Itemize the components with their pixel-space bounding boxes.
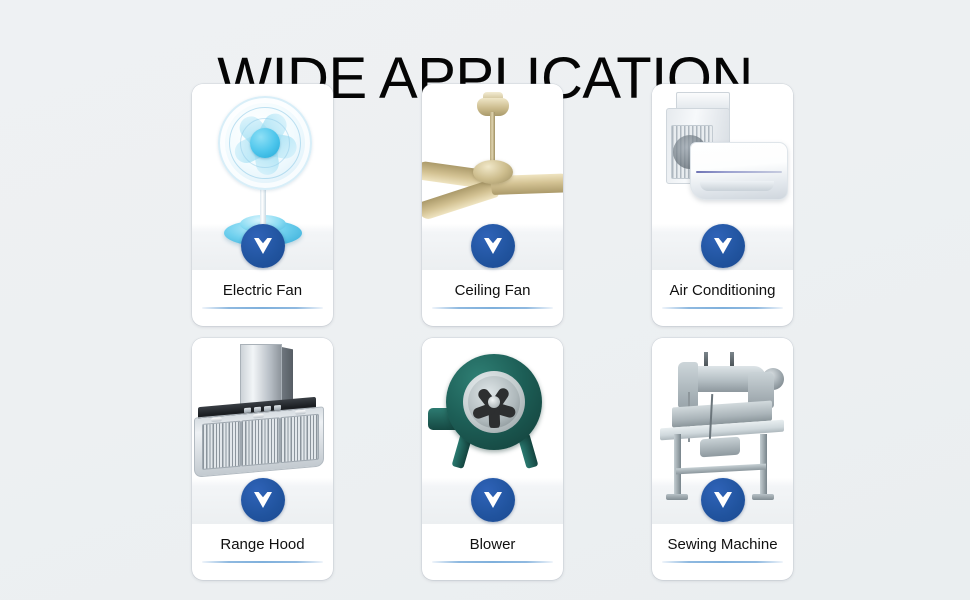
fan-blade: [261, 132, 298, 161]
chevron-down-icon[interactable]: [241, 224, 285, 268]
stand-foot: [752, 494, 774, 500]
card-label: Electric Fan: [192, 281, 333, 300]
chevron-down-icon[interactable]: [471, 478, 515, 522]
hood-filter: [241, 417, 280, 466]
card-label: Sewing Machine: [652, 535, 793, 554]
fan-blade: [231, 131, 272, 167]
card-label: Air Conditioning: [652, 281, 793, 300]
card-underline: [432, 307, 553, 309]
hood-body: [194, 406, 324, 477]
fan-cage: [218, 96, 312, 190]
thread-spool-pin: [730, 352, 734, 366]
application-card-ceiling-fan[interactable]: Ceiling Fan: [422, 84, 563, 326]
card-underline: [432, 561, 553, 563]
stand-foot: [666, 494, 688, 500]
application-card-electric-fan[interactable]: Electric Fan: [192, 84, 333, 326]
card-label: Blower: [422, 535, 563, 554]
chevron-down-icon[interactable]: [701, 224, 745, 268]
fan-hub: [250, 128, 280, 158]
card-underline: [662, 561, 783, 563]
card-label: Range Hood: [192, 535, 333, 554]
card-underline: [202, 307, 323, 309]
ac-vent: [700, 181, 774, 191]
fan-hub: [473, 160, 513, 184]
ac-accent-line: [696, 171, 782, 173]
card-underline: [662, 307, 783, 309]
hood-filter: [202, 421, 241, 470]
chevron-down-icon[interactable]: [701, 478, 745, 522]
card-label: Ceiling Fan: [422, 281, 563, 300]
blower-housing: [446, 354, 542, 450]
fan-blade: [235, 112, 275, 152]
hood-chimney: [240, 344, 282, 408]
hood-filter: [280, 414, 319, 463]
application-cards-grid: Electric Fan Ceiling Fan: [192, 84, 794, 588]
chevron-down-icon[interactable]: [241, 478, 285, 522]
ac-indoor-unit: [690, 142, 788, 200]
motor: [700, 437, 740, 458]
card-underline: [202, 561, 323, 563]
application-card-blower[interactable]: Blower: [422, 338, 563, 580]
fan-blade: [253, 139, 281, 176]
application-card-air-conditioning[interactable]: Air Conditioning: [652, 84, 793, 326]
fan-blade: [254, 110, 290, 151]
application-card-sewing-machine[interactable]: Sewing Machine: [652, 338, 793, 580]
fan-blade: [422, 179, 499, 220]
chevron-down-icon[interactable]: [471, 224, 515, 268]
impeller-center: [488, 396, 500, 408]
thread-spool-pin: [704, 352, 708, 366]
stand-leg: [674, 434, 681, 496]
stand-crossbar: [676, 464, 766, 475]
application-card-range-hood[interactable]: Range Hood: [192, 338, 333, 580]
fan-downrod: [490, 112, 495, 166]
